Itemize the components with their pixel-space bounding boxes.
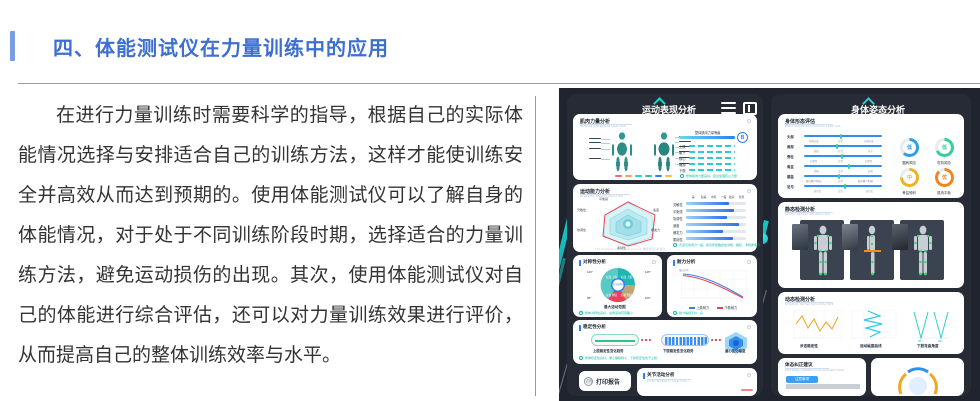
gait-stability-chart: [790, 310, 842, 342]
card-title: 耐力分析: [677, 259, 695, 265]
posture-right: 后倾过度: [864, 139, 874, 143]
donut-label: 左屈 上旋: [606, 275, 617, 279]
posture-row-label: 骨盆: [787, 164, 794, 169]
posture-mid: 正常: [838, 179, 843, 183]
legend-swatch: [635, 175, 642, 177]
card-endurance: 耐力分析 输出功率 上肢耐力 下肢耐力 耐力等级评价：良: [667, 255, 757, 317]
card-note: 灵活与协调力一般，建议增加敏捷性训练、跳跃、冲刺类练习: [673, 243, 760, 247]
row-label: 下肢: [679, 168, 686, 173]
warning-tag: 注意事项: [786, 376, 818, 383]
bar-row-label: 灵敏性: [673, 202, 683, 207]
gear-icon[interactable]: [747, 325, 751, 329]
angle-label: 145°: [645, 270, 651, 274]
gear-icon[interactable]: [747, 260, 751, 264]
risk-gauge: 中: [900, 168, 919, 187]
bar-row-label: 速度: [673, 223, 679, 228]
gauge-caption: 驼背风险: [929, 160, 959, 165]
decorative-streak: [559, 258, 566, 327]
gear-icon[interactable]: [652, 260, 656, 264]
card-symmetry: 对称性分析 左屈 上旋 右屈 上旋 左旋 侧屈 右旋 侧屈 左右对称度 120°…: [573, 255, 662, 317]
dashboard-screenshot: 运动表现分析 肌肉力量分析 MUSCLE STRENGTH ANALYSIS: [559, 88, 980, 401]
card-title: 对称性分析: [583, 259, 606, 265]
posture-right: 膝外翻(X型腿): [858, 179, 873, 183]
angle-label: 98°: [587, 296, 591, 300]
angle-label: 106°: [645, 296, 651, 300]
legend-swatch: [655, 175, 662, 177]
scale-label: 较好: [729, 195, 734, 199]
posture-left: 左侧弯: [810, 159, 817, 163]
row-label: 躯干: [679, 150, 686, 155]
risk-gauge: 低: [900, 138, 919, 157]
posture-left: 膝内翻(O型腿): [806, 179, 821, 183]
radar-chart: [595, 199, 661, 247]
donut-center-label: 左右对称度: [613, 282, 625, 286]
chart-caption: 步态稳定性: [800, 344, 818, 349]
svg-text:30°: 30°: [918, 339, 923, 342]
risk-gauge: 低: [935, 138, 954, 157]
scale-label: 一般: [721, 195, 726, 199]
skeleton-figure: [810, 225, 836, 277]
scale-label: 优秀: [739, 195, 744, 199]
article-paragraph: 在进行力量训练时需要科学的指导，根据自己的实际体能情况选择与安排适合自己的训练方…: [18, 96, 523, 376]
row-label: 上肢: [679, 144, 686, 149]
note-text: 整体对称性良好，左侧活动范围略小: [585, 311, 633, 315]
legend-entry: 下肢耐力: [717, 305, 737, 310]
posture-left: 前倾: [814, 169, 819, 173]
gauge-caption: 骨盆倾斜: [894, 190, 924, 195]
card-dynamic-detection: 动态检测分析 DYNAMIC DETECTION ANALYSIS 步态稳定性 …: [778, 292, 964, 354]
print-report-label: 打印报告: [596, 377, 620, 386]
row-label: 髋部: [679, 162, 686, 167]
card-subtitle: BODY SHAPE EVALUATION ANALYSIS: [785, 125, 841, 128]
donut-label: 右屈 上旋: [621, 275, 632, 279]
donut-caption: 最大活动范围: [604, 305, 626, 310]
muscle-figure-front: [611, 132, 633, 174]
muscle-figure-back: [653, 132, 675, 174]
card-athletic-ability: 运动能力分析 ATHLETIC ABILITY ANALYSIS 平衡感 速度 …: [573, 184, 757, 252]
card-note: 整体肌肉力量良好，建议加强核心力量: [680, 174, 737, 178]
photo-thumbnail: [892, 224, 908, 250]
card-subtitle: JOINT MOBILITY ANALYSIS: [647, 380, 687, 383]
posture-row-label: 足弓: [787, 184, 794, 189]
gauge-value: 低: [938, 141, 951, 154]
heading-accent-bar: [10, 31, 15, 61]
angle-label: 120°: [587, 270, 593, 274]
radar-axis-label: 协调性: [577, 228, 586, 232]
skeleton-view-side: [850, 220, 894, 280]
strength-grade-label: 整体肌肉力量等级: [695, 130, 721, 135]
skeleton-view-front: [800, 220, 844, 280]
posture-mid: 正常: [838, 159, 843, 163]
knee-angle-chart: 30° 32°: [908, 308, 954, 342]
stability-item-label: 重心变化幅度: [725, 348, 745, 353]
range-of-motion-chart: [850, 310, 898, 342]
card-body-shape: 身体形态评估 BODY SHAPE EVALUATION ANALYSIS 头部…: [778, 114, 964, 198]
card-joint-mobility: 关节活动分析 JOINT MOBILITY ANALYSIS: [637, 368, 757, 396]
note-text: 耐力等级评价：良: [679, 311, 703, 315]
gauge-value: 低: [903, 141, 916, 154]
card-subtitle: POSTURE CORRECTION SUGGESTIONS: [785, 369, 844, 372]
posture-left: 扁平足: [814, 189, 821, 193]
posture-right: 右侧弯: [865, 159, 872, 163]
card-title: 稳定性分析: [583, 324, 606, 330]
posture-left: 前倾过度: [809, 139, 819, 143]
row-label: 核心: [679, 156, 686, 161]
scale-label: 较差: [701, 195, 706, 199]
donut-label: 左旋 侧屈: [606, 293, 617, 297]
donut-label: 右旋 侧屈: [621, 293, 632, 297]
card-note: 整体稳定性良好，重心偏移较小，下肢稳定性优于上肢: [579, 356, 657, 360]
card-title: 关节活动分析: [647, 372, 675, 378]
bar-row-label: 平衡感: [673, 209, 683, 214]
page-title: 四、体能测试仪在力量训练中的应用: [53, 32, 389, 61]
gauge-caption: 圆肩风险: [894, 160, 924, 165]
bar-row-label: 协调性: [673, 216, 683, 221]
radar-axis-label: 速度: [653, 208, 659, 212]
gauge-value: 中: [903, 171, 916, 184]
stability-gauge-lower: [661, 334, 709, 346]
bar-row-label: 爆发力: [673, 230, 683, 235]
gauge-value: 优: [938, 171, 951, 184]
card-overall-score: [871, 358, 964, 396]
stability-item-label: 下肢稳定性变化趋势: [663, 348, 694, 353]
section-heading: 四、体能测试仪在力量训练中的应用: [0, 24, 980, 68]
photo-thumbnail: [842, 224, 858, 250]
title-underline: [580, 124, 632, 125]
card-subtitle: STATIC DETECTION ANALYSIS: [785, 213, 830, 216]
posture-mid: 正常: [838, 189, 843, 193]
posture-row-label: 脊柱: [787, 154, 794, 159]
legend-entry: 上肢耐力: [689, 305, 709, 310]
scale-label: 差: [692, 195, 695, 199]
card-stability: 稳定性分析 上肢稳定性变化趋势 下肢稳定性变化趋势 重心变化幅度 整体稳定性良好…: [573, 320, 757, 364]
note-text: 灵活与协调力一般，建议增加敏捷性训练、跳跃、冲刺类练习: [679, 243, 760, 247]
card-muscle-strength: 肌肉力量分析 MUSCLE STRENGTH ANALYSIS: [573, 114, 757, 180]
print-report-button[interactable]: 打印报告: [579, 371, 631, 391]
card-subtitle: DYNAMIC DETECTION ANALYSIS: [785, 303, 834, 306]
card-subtitle: MUSCLE STRENGTH ANALYSIS: [580, 125, 626, 128]
posture-mid: 正常: [838, 169, 843, 173]
radar-axis-label: 平衡感: [599, 197, 608, 201]
stability-item-label: 上肢稳定性变化趋势: [593, 348, 624, 353]
top-divider: [18, 83, 980, 84]
chart-caption: 运动幅度曲线: [860, 344, 882, 349]
risk-gauge: 优: [935, 168, 954, 187]
note-text: 整体稳定性良好，重心偏移较小，下肢稳定性优于上肢: [585, 356, 657, 360]
svg-text:32°: 32°: [938, 339, 943, 342]
posture-mid: 正常: [838, 149, 843, 153]
stability-gauge-upper: [591, 334, 639, 346]
card-note: 耐力等级评价：良: [673, 311, 703, 315]
posture-row-label: 头部: [787, 134, 794, 139]
legend-swatch: [645, 175, 652, 177]
skeleton-figure: [862, 225, 884, 277]
column-divider: [535, 96, 536, 396]
score-arc-gauge: [897, 366, 939, 396]
posture-right: 水平: [868, 149, 873, 153]
card-static-detection: 静态检测分析 STATIC DETECTION ANALYSIS: [778, 202, 964, 288]
posture-row-label: 肩部: [787, 144, 794, 149]
skeleton-view-back: [900, 220, 944, 280]
radar-axis-label: 灵敏性: [577, 208, 586, 212]
posture-right: 高弓足: [866, 189, 873, 193]
gear-icon[interactable]: [747, 189, 751, 193]
photo-thumbnail: [792, 224, 808, 250]
printer-icon: [584, 377, 593, 386]
posture-row-label: 膝盖: [787, 174, 794, 179]
chart-caption: 下肢弯曲角度: [917, 344, 939, 349]
legend-swatch: [615, 175, 622, 177]
legend-swatch: [625, 175, 632, 177]
posture-right: 后倾: [868, 169, 873, 173]
scale-label: 中等: [711, 195, 716, 199]
strength-score-badge: B: [737, 132, 748, 143]
note-text: 整体肌肉力量良好，建议加强核心力量: [686, 174, 737, 178]
gear-icon[interactable]: [747, 119, 751, 123]
endurance-line-chart: [681, 270, 747, 302]
card-footnote: The Analysis of Physical Fitness 体能测试分析报…: [595, 247, 666, 251]
radar-axis-label: 爆发力: [651, 228, 660, 232]
skeleton-figure: [910, 225, 936, 277]
card-note: 整体对称性良好，左侧活动范围略小: [579, 311, 633, 315]
gear-icon[interactable]: [747, 373, 751, 377]
bar-row-label: 柔韧性: [673, 237, 683, 242]
posture-left: 高低: [814, 149, 819, 153]
card-posture-correction: 体态纠正建议 POSTURE CORRECTION SUGGESTIONS 注意…: [778, 358, 866, 396]
article-body: 在进行力量训练时需要科学的指导，根据自己的实际体能情况选择与安排适合自己的训练方…: [18, 96, 523, 376]
posture-mid: 正常: [838, 139, 843, 143]
gauge-caption: 肌肉平衡: [929, 190, 959, 195]
legend-swatch: [665, 175, 672, 177]
